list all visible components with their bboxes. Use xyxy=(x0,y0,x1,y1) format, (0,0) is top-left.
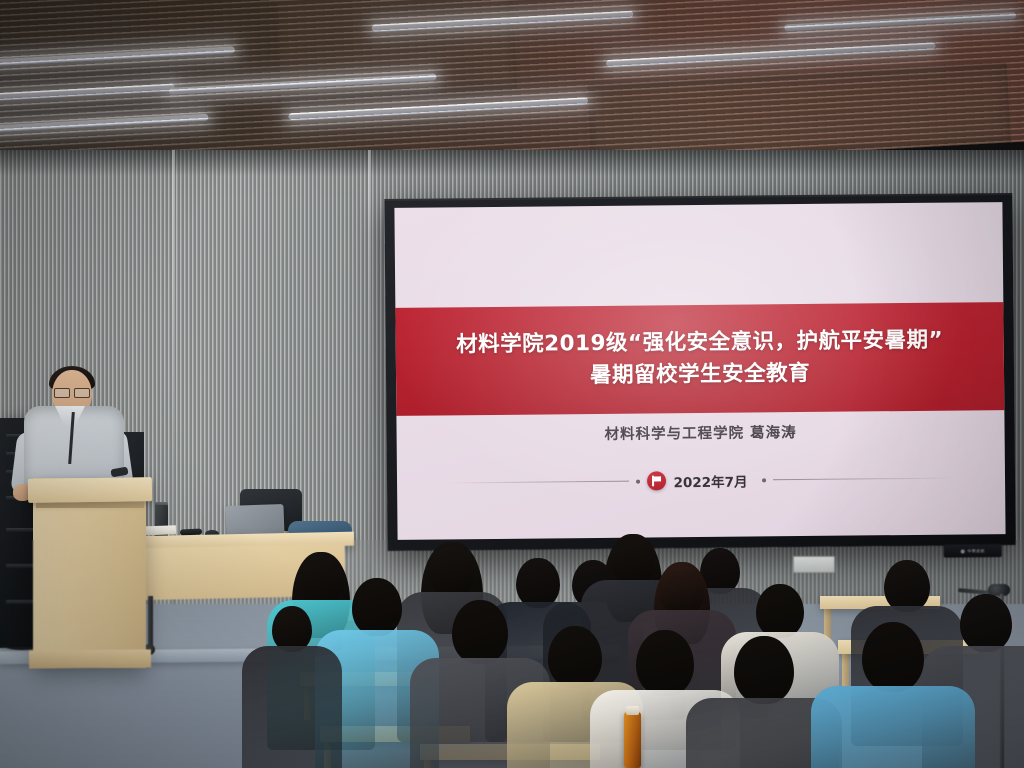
dateline-dot-left xyxy=(636,479,640,483)
audience-head xyxy=(756,584,804,638)
projection-screen-bezel: 材料学院2019级“强化安全意识，护航平安暑期” 暑期留校学生安全教育 材料科学… xyxy=(384,193,1015,551)
screen-brand-plate: 中教启航 xyxy=(944,544,1002,558)
audience-head xyxy=(548,626,602,688)
audience-head xyxy=(300,556,342,606)
brand-dot-icon xyxy=(960,549,964,553)
flag-logo-icon xyxy=(646,471,665,490)
podium-base xyxy=(29,649,151,668)
dateline-dot-right xyxy=(762,478,766,482)
podium-top xyxy=(28,477,152,503)
audience-head xyxy=(612,538,654,586)
ceiling-led-strip xyxy=(372,11,634,32)
slide-title-line-1: 材料学院2019级“强化安全意识，护航平安暑期” xyxy=(456,326,943,360)
ceiling-led-strip xyxy=(0,46,235,71)
audience-head xyxy=(430,546,474,598)
wall-top-shadow xyxy=(0,150,1024,176)
slide-title-banner: 材料学院2019级“强化安全意识，护航平安暑期” 暑期留校学生安全教育 xyxy=(395,302,1004,415)
slide-date-line: 2022年7月 xyxy=(446,468,957,493)
audience-head xyxy=(862,622,924,692)
projection-screen-surface: 材料学院2019级“强化安全意识，护航平安暑期” 暑期留校学生安全教育 材料科学… xyxy=(394,202,1005,540)
audience-head xyxy=(960,594,1012,652)
ceiling-panel-left xyxy=(270,0,518,102)
audience-torso xyxy=(811,686,975,768)
tea-bottle-icon xyxy=(624,712,641,768)
audience-head xyxy=(660,566,704,616)
audience-head xyxy=(734,636,794,704)
audience-desk-leg xyxy=(842,654,849,688)
audience-head xyxy=(884,560,930,612)
ceiling-led-strip xyxy=(0,83,175,104)
slide-date-text: 2022年7月 xyxy=(673,470,747,491)
ceiling-led-strip xyxy=(784,12,1016,32)
slide-title-line-2: 暑期留校学生安全教育 xyxy=(590,358,810,391)
audience-head xyxy=(636,630,694,696)
audience-head xyxy=(516,558,560,608)
dateline-rule-left xyxy=(446,481,629,484)
brand-label: 中教启航 xyxy=(967,548,985,554)
audience-head xyxy=(352,578,402,636)
wall-seam-center xyxy=(368,150,371,620)
audience-head xyxy=(452,600,508,664)
lecture-hall-photo: 材料学院2019级“强化安全意识，护航平安暑期” 暑期留校学生安全教育 材料科学… xyxy=(0,0,1024,768)
slide-subtitle-presenter: 材料科学与工程学院 葛海涛 xyxy=(396,419,1004,446)
ceiling-led-strip xyxy=(288,97,588,120)
wall-outlet-plate xyxy=(793,556,835,573)
desk-leg-left xyxy=(148,596,153,646)
tea-bottle-cap xyxy=(626,706,639,715)
glasses-icon xyxy=(54,388,90,396)
ceiling-led-strip xyxy=(606,42,936,67)
audience-torso xyxy=(242,646,342,768)
dateline-rule-right xyxy=(774,478,957,481)
ceiling-led-strip xyxy=(0,114,209,137)
ceiling-led-strip xyxy=(169,73,437,94)
